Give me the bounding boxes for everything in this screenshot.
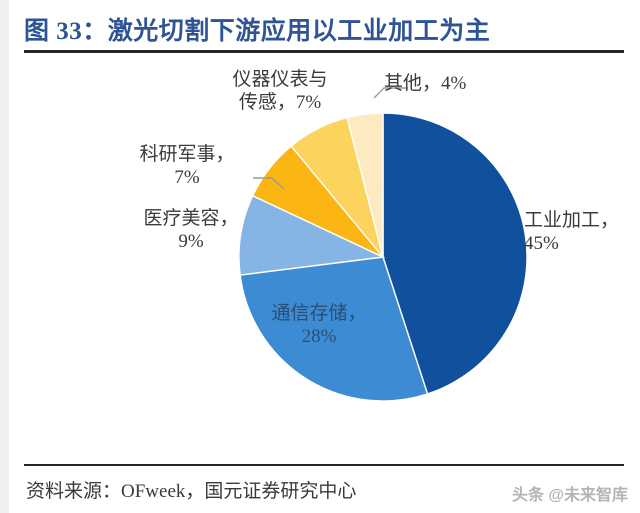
left-gutter-bar: [0, 0, 9, 513]
slice-label-communication: 通信存储， 28%: [253, 302, 385, 348]
slice-label-research: 科研军事， 7%: [128, 143, 246, 189]
slice-label-other: 其他，4%: [384, 72, 494, 95]
pie-chart: [10, 56, 630, 458]
figure-page: 图 33：激光切割下游应用以工业加工为主 仪器仪表与 传感，7% 其他，4% 科…: [0, 0, 640, 513]
slice-label-medical: 医疗美容， 9%: [132, 207, 250, 253]
watermark: 头条 @未来智库: [512, 481, 628, 505]
page-title: 图 33：激光切割下游应用以工业加工为主: [24, 11, 490, 47]
figure-header: 图 33：激光切割下游应用以工业加工为主: [24, 8, 584, 50]
header-divider: [24, 50, 624, 53]
pie-slices: [239, 113, 527, 401]
source-note: 资料来源：OFweek，国元证券研究中心: [26, 476, 356, 503]
footer-divider: [24, 464, 624, 466]
slice-label-industrial: 工业加工， 45%: [524, 209, 640, 255]
pie-chart-svg: [10, 56, 630, 458]
slice-label-instrument: 仪器仪表与 传感，7%: [206, 68, 354, 114]
